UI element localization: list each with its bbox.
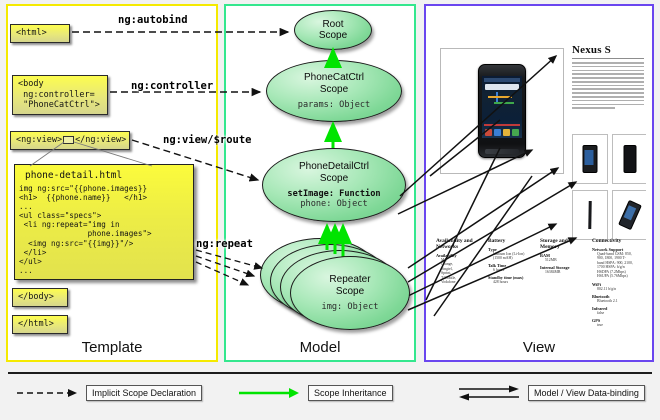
spec-val: 802.11 b/g/n [597,287,640,292]
edge-label-repeat: ng:repeat [196,238,253,250]
thumbnail-3[interactable] [572,190,608,240]
scope-detail-name-1: PhoneDetailCtrl [299,161,369,173]
phone-buttons [485,149,519,154]
ngview-placeholder-rect-icon [63,136,74,144]
spec-val: 6 hours [493,268,536,273]
panel-template-label: Template [8,339,216,356]
spec-val: HSUPA (5.76Mbps) [597,274,640,279]
scope-cat-name-2: Scope [320,84,348,96]
edge-label-route: ng:view/$route [163,134,252,146]
spec-val: false [597,311,640,316]
spec-val: (1500 mAH) [493,256,536,261]
thumbnail-4[interactable] [612,190,646,240]
dashed-arrow-icon [16,387,78,399]
product-description-text [572,62,644,124]
scope-root-name-2: Scope [319,30,347,42]
spec-val: 512MB [545,258,588,263]
spec-table: Availability and Networks Availability M… [436,238,642,342]
view-rendered-page: Nexus S Availability and Networks Availa… [432,12,646,342]
panel-model-label: Model [226,339,414,356]
scope-repeater-name-1: Repeater [329,274,370,286]
spec-column-battery: Battery Type Lithium Ion (Li-Ion) (1500 … [488,238,536,285]
phone-screen [482,76,522,138]
scope-cat-name-1: PhoneCatCtrl [304,72,364,84]
title-rule [572,58,644,59]
spec-val: Vodafone [441,280,484,285]
legend-item-data-binding: Model / View Data-binding [458,384,645,402]
legend-item-scope-inheritance: Scope Inheritance [238,384,393,402]
spec-val: 428 hours [493,280,536,285]
spec-val: true [597,323,640,328]
spec-val: Bluetooth 2.1 [597,299,640,304]
scope-phonedetailctrl: PhoneDetailCtrl Scope setImage: Function… [262,148,406,222]
code-tag-body: <body ng:controller= "PhoneCatCtrl"> [12,75,108,115]
scope-repeater-name-2: Scope [336,286,364,298]
code-tag-html-close: </html> [12,315,68,334]
scope-repeater-member-img: img: Object [322,302,379,312]
scope-detail-name-2: Scope [320,173,348,185]
spec-column-storage: Storage and Memory RAM 512MB Internal St… [540,238,588,274]
edge-label-autobind: ng:autobind [118,14,188,26]
code-tag-html: <html> [10,24,70,43]
legend-label-scope-inheritance: Scope Inheritance [308,385,393,401]
code-tag-body-close: </body> [12,288,68,307]
ngview-close-label: </ng:view> [75,135,126,145]
scope-root-name-1: Root [322,19,343,31]
edge-label-controller: ng:controller [131,80,213,92]
legend-label-implicit-scope: Implicit Scope Declaration [86,385,202,401]
spec-val: 16384MB [545,270,588,275]
scope-phonecatctrl: PhoneCatCtrl Scope params: Object [266,60,402,122]
callout-phone-detail: phone-detail.html img ng:src="{{phone.im… [14,164,194,280]
phone-illustration-icon [478,64,526,158]
product-title: Nexus S [572,44,611,56]
scope-repeater: Repeater Scope img: Object [290,256,410,330]
thumbnail-1[interactable] [572,134,608,184]
green-arrow-icon [238,387,300,399]
spec-header-availability: Availability and Networks [436,238,484,250]
legend-divider [8,372,652,374]
scope-cat-member-params: params: Object [298,100,370,110]
phone-hero-image [440,48,564,174]
scope-root: Root Scope [294,10,372,50]
code-tag-ngview: <ng:view></ng:view> [10,131,130,150]
spec-column-connectivity: Connectivity Network Support Quad-band G… [592,238,640,327]
legend-item-implicit-scope: Implicit Scope Declaration [16,384,202,402]
double-arrow-icon [458,384,520,402]
spec-header-battery: Battery [488,238,536,244]
thumbnail-2[interactable] [612,134,646,184]
callout-title: phone-detail.html [25,170,189,181]
legend-label-data-binding: Model / View Data-binding [528,385,645,401]
spec-header-storage: Storage and Memory [540,238,588,250]
scope-detail-member-phone: phone: Object [300,199,367,209]
spec-column-availability: Availability and Networks Availability M… [436,238,484,285]
diagram-canvas: Template Model View [0,0,660,420]
scope-detail-member-setimage: setImage: Function [287,189,380,199]
spec-header-connectivity: Connectivity [592,238,640,244]
ngview-open-label: <ng:view> [16,135,62,145]
callout-code: img ng:src="{{phone.images}} <h1> {{phon… [19,184,189,275]
